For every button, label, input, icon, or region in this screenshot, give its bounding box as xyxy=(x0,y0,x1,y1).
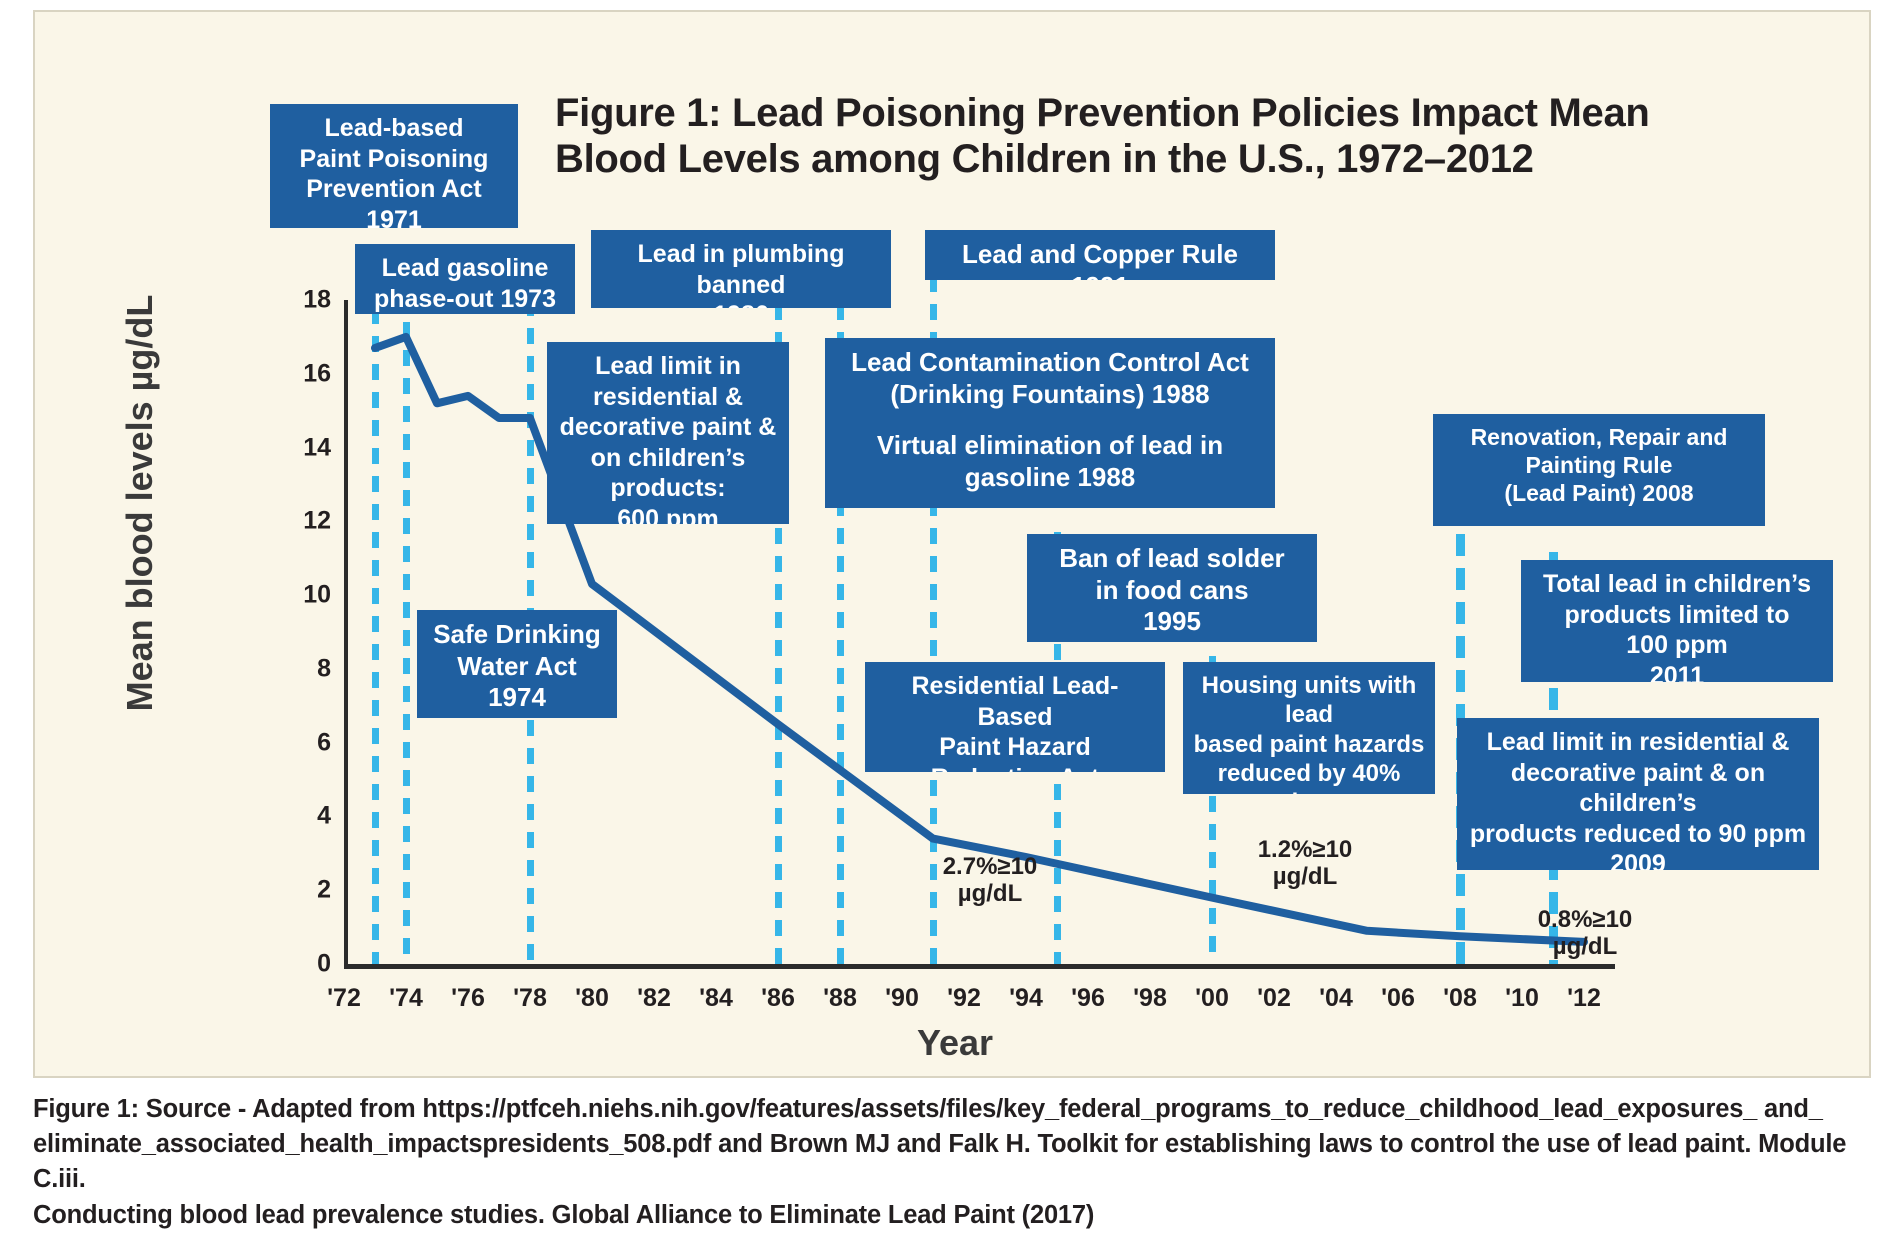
callout-residential-lead-based-paint-hazard-reduction-act-1992[interactable]: Residential Lead-BasedPaint Hazard Reduc… xyxy=(865,662,1165,772)
y-tick-label: 18 xyxy=(271,286,331,315)
callout-line: Lead-based xyxy=(280,113,508,144)
callout-ban-of-lead-solder-in-food-cans-1995[interactable]: Ban of lead solderin food cans1995 xyxy=(1027,534,1317,642)
callout-line: decorative paint & xyxy=(557,412,779,443)
callout-line: Housing units with lead xyxy=(1193,671,1425,730)
callout-line: Prevention Act xyxy=(280,174,508,205)
callout-line: Painting Rule xyxy=(1443,451,1755,479)
x-tick-76: '76 xyxy=(438,984,498,1013)
x-tick-08: '08 xyxy=(1430,984,1490,1013)
callout-line: 2009 xyxy=(1467,849,1809,870)
annotation-1991-line1: 2.7%≥10 xyxy=(895,854,1085,881)
callout-line: Virtual elimination of lead in xyxy=(835,430,1265,462)
figure-panel: Figure 1: Lead Poisoning Prevention Poli… xyxy=(33,10,1871,1078)
callout-line: 1974 xyxy=(427,682,607,714)
x-tick-12: '12 xyxy=(1554,984,1614,1013)
figure-root: Figure 1: Lead Poisoning Prevention Poli… xyxy=(0,0,1900,1232)
callout-line: 100 ppm xyxy=(1531,630,1823,661)
page-title: Figure 1: Lead Poisoning Prevention Poli… xyxy=(555,90,1755,183)
y-tick-8: 8 xyxy=(271,669,331,698)
callout-line: reduced by 40% since xyxy=(1193,759,1425,794)
caption-line-3: Conducting blood lead prevalence studies… xyxy=(33,1198,1878,1233)
callout-line: phase-out 1973 xyxy=(365,284,565,315)
x-tick-90: '90 xyxy=(872,984,932,1013)
callout-lead-and-copper-rule-1991[interactable]: Lead and Copper Rule 1991 xyxy=(925,230,1275,280)
callout-line: 1995 xyxy=(1037,606,1307,638)
callout-line: products reduced to 90 ppm xyxy=(1467,819,1809,850)
annotation-1991: 2.7%≥10 µg/dL xyxy=(895,854,1085,920)
y-tick-18: 18 xyxy=(271,300,331,329)
annotation-2010-line2: µg/dL xyxy=(1490,934,1680,961)
callout-line: gasoline 1988 xyxy=(835,462,1265,494)
y-tick-label: 4 xyxy=(271,802,331,831)
y-tick-label: 12 xyxy=(271,507,331,536)
annotation-1991-line2: µg/dL xyxy=(895,881,1085,908)
callout-line: Lead Contamination Control Act xyxy=(835,347,1265,379)
x-tick-10: '10 xyxy=(1492,984,1552,1013)
callout-line: Paint Hazard Reduction Act xyxy=(875,732,1155,772)
callout-safe-drinking-water-act-1974[interactable]: Safe DrinkingWater Act1974 xyxy=(417,610,617,718)
callout-renovation-repair-painting-rule-2008[interactable]: Renovation, Repair andPainting Rule(Lead… xyxy=(1433,414,1765,526)
callout-lead-limit-90ppm-2009[interactable]: Lead limit in residential &decorative pa… xyxy=(1457,718,1819,870)
callout-line: residential & xyxy=(557,382,779,413)
x-tick-72: '72 xyxy=(314,984,374,1013)
y-tick-16: 16 xyxy=(271,374,331,403)
x-tick-84: '84 xyxy=(686,984,746,1013)
figure-caption: Figure 1: Source - Adapted from https://… xyxy=(33,1092,1878,1233)
callout-line: decorative paint & on children’s xyxy=(1467,758,1809,819)
title-line-1: Figure 1: Lead Poisoning Prevention Poli… xyxy=(555,90,1755,136)
callout-line: Lead in plumbing banned xyxy=(601,239,881,300)
y-tick-12: 12 xyxy=(271,521,331,550)
x-tick-80: '80 xyxy=(562,984,622,1013)
x-tick-96: '96 xyxy=(1058,984,1118,1013)
x-tick-86: '86 xyxy=(748,984,808,1013)
y-tick-label: 10 xyxy=(271,581,331,610)
x-tick-74: '74 xyxy=(376,984,436,1013)
callout-line: 600 ppm xyxy=(557,504,779,525)
x-tick-82: '82 xyxy=(624,984,684,1013)
y-tick-10: 10 xyxy=(271,595,331,624)
y-tick-label: 0 xyxy=(271,950,331,979)
callout-line: Total lead in children’s xyxy=(1531,569,1823,600)
x-tick-06: '06 xyxy=(1368,984,1428,1013)
callout-housing-units-lead-hazards-reduced-1990[interactable]: Housing units with leadbased paint hazar… xyxy=(1183,662,1435,794)
callout-lead-based-paint-poisoning-prevention-act-1971[interactable]: Lead-basedPaint PoisoningPrevention Act1… xyxy=(270,104,518,228)
callout-line-spacer xyxy=(835,410,1265,430)
callout-line: on children’s products: xyxy=(557,443,779,504)
callout-lead-in-plumbing-banned-1986[interactable]: Lead in plumbing banned1986 xyxy=(591,230,891,308)
callout-line: Safe Drinking xyxy=(427,619,607,651)
callout-line: Lead limit in residential & xyxy=(1467,727,1809,758)
callout-line: (Lead Paint) 2008 xyxy=(1443,479,1755,507)
x-tick-02: '02 xyxy=(1244,984,1304,1013)
callout-line: Lead limit in xyxy=(557,351,779,382)
callout-line: Lead gasoline xyxy=(365,253,565,284)
callout-line: 1971 xyxy=(280,205,508,229)
callout-line: based paint hazards xyxy=(1193,730,1425,759)
callout-line: Paint Poisoning xyxy=(280,144,508,175)
x-tick-78: '78 xyxy=(500,984,560,1013)
y-axis-label: Mean blood levels µg/dL xyxy=(119,263,161,743)
y-tick-label: 8 xyxy=(271,654,331,683)
callout-line: Renovation, Repair and xyxy=(1443,423,1755,451)
callout-line: 1986 xyxy=(601,300,881,308)
callout-line: Residential Lead-Based xyxy=(875,671,1155,732)
callout-total-lead-children-products-100ppm-2011[interactable]: Total lead in children’sproducts limited… xyxy=(1521,560,1833,682)
x-tick-00: '00 xyxy=(1182,984,1242,1013)
annotation-2000-line2: µg/dL xyxy=(1210,864,1400,891)
callout-line: Ban of lead solder xyxy=(1037,543,1307,575)
x-tick-92: '92 xyxy=(934,984,994,1013)
x-tick-94: '94 xyxy=(996,984,1056,1013)
y-tick-14: 14 xyxy=(271,448,331,477)
caption-line-2: eliminate_associated_health_impactspresi… xyxy=(33,1127,1878,1197)
title-line-2: Blood Levels among Children in the U.S.,… xyxy=(555,136,1755,182)
annotation-2010-line1: 0.8%≥10 xyxy=(1490,907,1680,934)
x-tick-98: '98 xyxy=(1120,984,1180,1013)
annotation-2000: 1.2%≥10 µg/dL xyxy=(1210,837,1400,907)
callout-line: Water Act xyxy=(427,651,607,683)
y-tick-label: 6 xyxy=(271,728,331,757)
y-tick-label: 2 xyxy=(271,876,331,905)
callout-lead-limit-600ppm-1978[interactable]: Lead limit inresidential &decorative pai… xyxy=(547,342,789,524)
y-tick-label: 16 xyxy=(271,359,331,388)
caption-line-1: Figure 1: Source - Adapted from https://… xyxy=(33,1092,1878,1127)
x-tick-04: '04 xyxy=(1306,984,1366,1013)
callout-lead-contamination-control-act-1988[interactable]: Lead Contamination Control Act(Drinking … xyxy=(825,338,1275,508)
callout-line: in food cans xyxy=(1037,575,1307,607)
y-tick-label: 14 xyxy=(271,433,331,462)
y-tick-4: 4 xyxy=(271,816,331,845)
y-tick-2: 2 xyxy=(271,890,331,919)
annotation-2000-line1: 1.2%≥10 xyxy=(1210,837,1400,864)
x-axis-label: Year xyxy=(795,1022,1115,1064)
callout-line: (Drinking Fountains) 1988 xyxy=(835,379,1265,411)
y-tick-6: 6 xyxy=(271,743,331,772)
callout-line: products limited to xyxy=(1531,600,1823,631)
callout-lead-gasoline-phase-out-1973[interactable]: Lead gasolinephase-out 1973 xyxy=(355,244,575,314)
callout-line: Lead and Copper Rule 1991 xyxy=(935,239,1265,280)
annotation-2010: 0.8%≥10 µg/dL xyxy=(1490,907,1680,977)
callout-line: 2011 xyxy=(1531,661,1823,683)
x-tick-88: '88 xyxy=(810,984,870,1013)
